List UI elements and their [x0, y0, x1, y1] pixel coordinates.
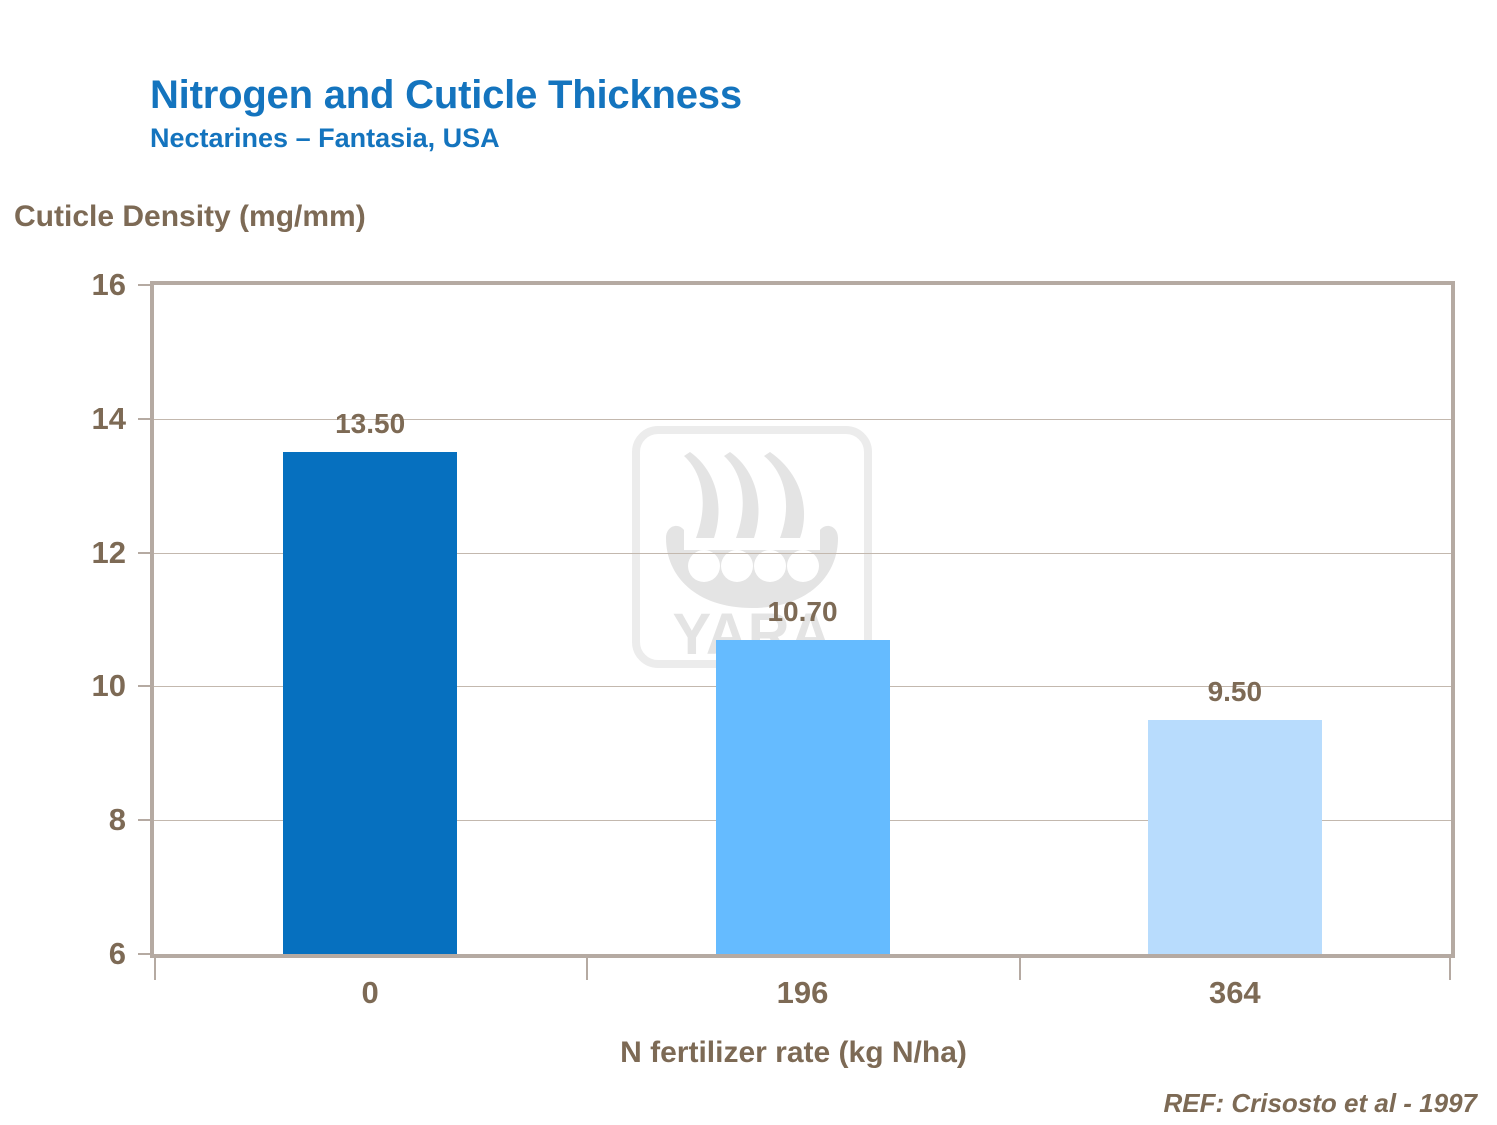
y-tick-mark: [138, 284, 150, 286]
y-tick-label: 16: [56, 269, 126, 300]
x-tick-label: 196: [693, 975, 913, 1011]
y-tick-label: 8: [56, 804, 126, 835]
bar[interactable]: [283, 452, 457, 954]
x-tick-label: 0: [260, 975, 480, 1011]
x-tick-separator: [1019, 958, 1021, 980]
reference-note: REF: Crisosto et al - 1997: [1163, 1088, 1477, 1119]
page-title: Nitrogen and Cuticle Thickness: [150, 74, 742, 116]
y-tick-label: 14: [56, 403, 126, 434]
x-tick-label: 364: [1125, 975, 1345, 1011]
x-axis-title: N fertilizer rate (kg N/ha): [0, 1036, 1497, 1070]
x-axis-end-tick: [1449, 958, 1451, 980]
plot-area: YARA 13.5010.709.50: [150, 281, 1455, 958]
y-tick-mark: [138, 418, 150, 420]
y-tick-mark: [138, 552, 150, 554]
yara-watermark: YARA: [632, 426, 872, 668]
y-tick-label: 12: [56, 537, 126, 568]
plot-inner: YARA 13.5010.709.50: [154, 285, 1451, 954]
y-axis: 6810121416: [60, 281, 150, 958]
y-axis-title: Cuticle Density (mg/mm): [14, 200, 366, 234]
y-tick-label: 6: [56, 938, 126, 969]
y-tick-label: 10: [56, 670, 126, 701]
bar-value-label: 9.50: [1118, 676, 1352, 708]
x-tick-separator: [586, 958, 588, 980]
bar[interactable]: [1148, 720, 1322, 954]
bar-value-label: 13.50: [253, 408, 487, 440]
bar[interactable]: [716, 640, 890, 954]
chart-subtitle: Nectarines – Fantasia, USA: [150, 121, 742, 156]
title-block: Nitrogen and Cuticle Thickness Nectarine…: [150, 74, 742, 156]
y-tick-mark: [138, 953, 150, 955]
x-axis-end-tick: [154, 958, 156, 980]
bar-value-label: 10.70: [686, 596, 920, 628]
y-tick-mark: [138, 685, 150, 687]
y-tick-mark: [138, 819, 150, 821]
